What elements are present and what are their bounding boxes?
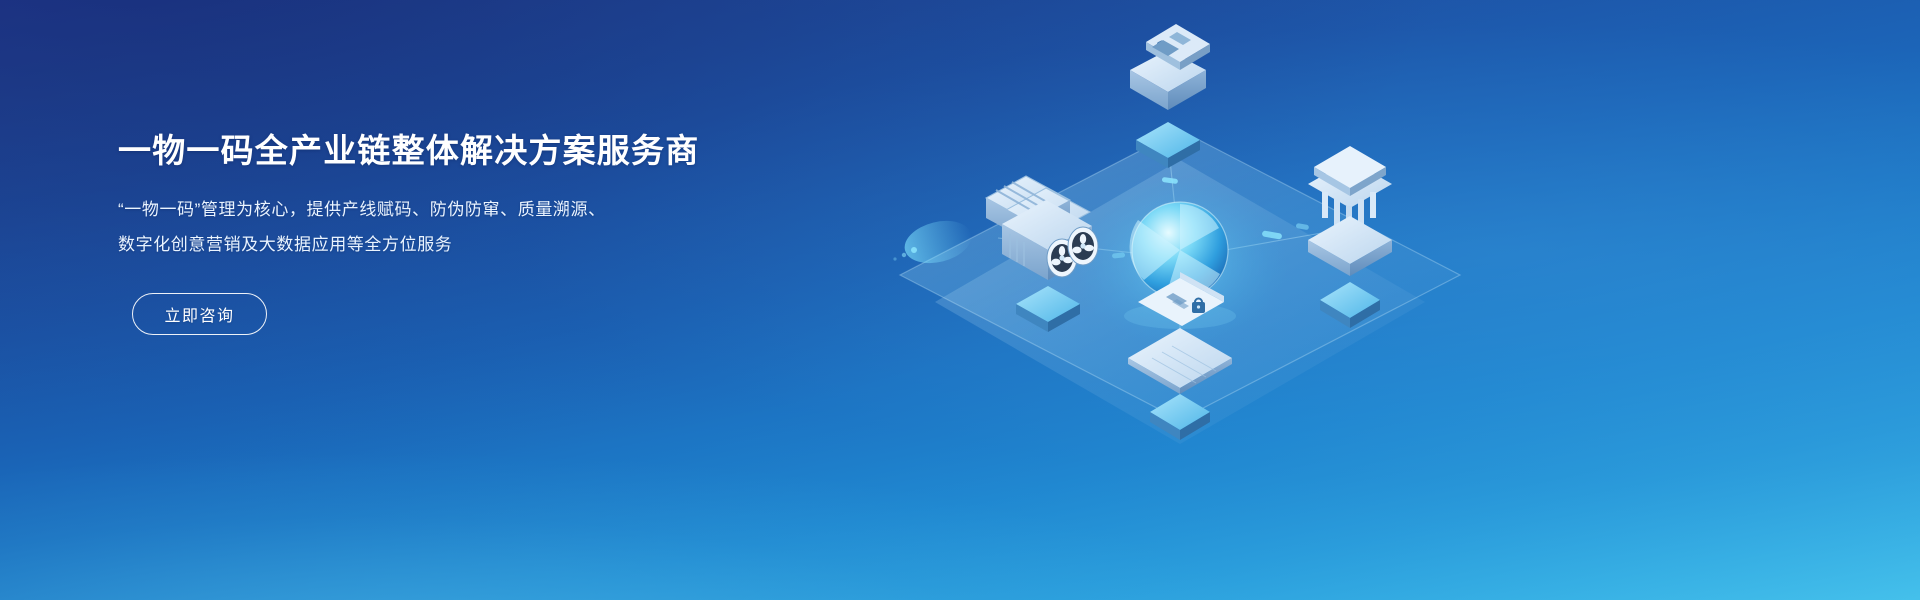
hero-subtitle: “一物一码”管理为核心，提供产线赋码、防伪防窜、质量溯源、 数字化创意营销及大数… (118, 193, 818, 263)
subtitle-line-2: 数字化创意营销及大数据应用等全方位服务 (118, 228, 818, 263)
page-title: 一物一码全产业链整体解决方案服务商 (118, 130, 818, 171)
hero-banner: 一物一码全产业链整体解决方案服务商 “一物一码”管理为核心，提供产线赋码、防伪防… (0, 0, 1920, 600)
bank-building-icon (1308, 146, 1392, 328)
hero-copy: 一物一码全产业链整体解决方案服务商 “一物一码”管理为核心，提供产线赋码、防伪防… (118, 130, 818, 335)
pos-terminal-icon (1130, 24, 1210, 168)
fan-icon (1068, 227, 1098, 265)
consult-now-button[interactable]: 立即咨询 (132, 293, 267, 335)
subtitle-line-1: “一物一码”管理为核心，提供产线赋码、防伪防窜、质量溯源、 (118, 193, 818, 228)
hero-illustration (880, 10, 1500, 440)
